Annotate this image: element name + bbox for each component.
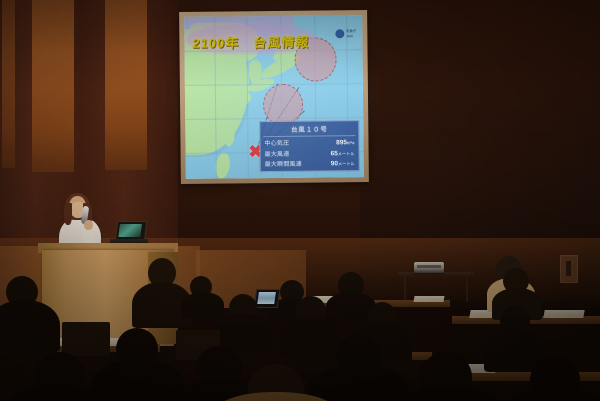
typhoon-info-table: 台風１０号 中心気圧 895hPa 最大風速 65メートル 最大瞬間風速 90メ…	[259, 120, 360, 172]
wall-panel-stripe	[32, 0, 74, 172]
info-row-label: 最大瞬間風速	[265, 159, 302, 168]
audience-laptop-screen	[257, 292, 276, 304]
screen-surface: ✖ 2100年 台風情報 気象庁 JMA 台風１０号 中心気圧 895hPa 最…	[184, 15, 364, 179]
handout-paper	[413, 296, 444, 302]
presenter-hair-side	[64, 203, 72, 225]
info-row-value: 90メートル	[331, 160, 355, 167]
info-row-label: 最大風速	[265, 148, 290, 157]
logo-text: 気象庁 JMA	[346, 29, 356, 38]
projection-screen: ✖ 2100年 台風情報 気象庁 JMA 台風１０号 中心気圧 895hPa 最…	[179, 10, 369, 184]
audience-member-body	[0, 300, 60, 352]
info-row-number: 895	[336, 139, 347, 146]
projector-unit	[414, 262, 444, 273]
audience-laptop[interactable]	[254, 289, 281, 308]
audience-member-body	[392, 388, 502, 401]
info-row-unit: メートル	[338, 161, 355, 166]
slide: ✖ 2100年 台風情報 気象庁 JMA 台風１０号 中心気圧 895hPa 最…	[184, 15, 364, 179]
info-row-unit: hPa	[347, 140, 355, 145]
presentation-photo-scene: ✖ 2100年 台風情報 気象庁 JMA 台風１０号 中心気圧 895hPa 最…	[0, 0, 600, 401]
laptop-screen	[118, 224, 142, 237]
slide-title: 2100年 台風情報	[192, 32, 310, 52]
handout-paper	[543, 310, 584, 318]
info-table-row: 最大風速 65メートル	[264, 146, 356, 157]
info-table-row: 中心気圧 895hPa	[263, 136, 355, 147]
audience-member-body	[182, 292, 224, 318]
chair-back	[62, 322, 110, 356]
map-land-kyushu	[237, 90, 251, 104]
organization-logo: 気象庁 JMA	[335, 29, 356, 38]
info-table-row: 最大瞬間風速 90メートル	[264, 157, 356, 168]
audience-member-body	[506, 390, 600, 401]
table-leg	[466, 276, 468, 302]
info-row-unit: メートル	[338, 151, 355, 156]
wall-panel-stripe	[105, 0, 147, 170]
audience-member-body	[280, 318, 342, 360]
info-row-value: 895hPa	[336, 139, 354, 146]
info-row-value: 65メートル	[331, 150, 355, 157]
info-table-heading: 台風１０号	[263, 123, 355, 137]
wall-outlet-plate	[560, 255, 578, 283]
logo-mark-icon	[335, 29, 344, 38]
wall-panel-stripe	[2, 0, 15, 168]
info-row-label: 中心気圧	[264, 138, 289, 147]
presenter-hand	[84, 220, 93, 230]
audience-member-body	[308, 366, 408, 401]
